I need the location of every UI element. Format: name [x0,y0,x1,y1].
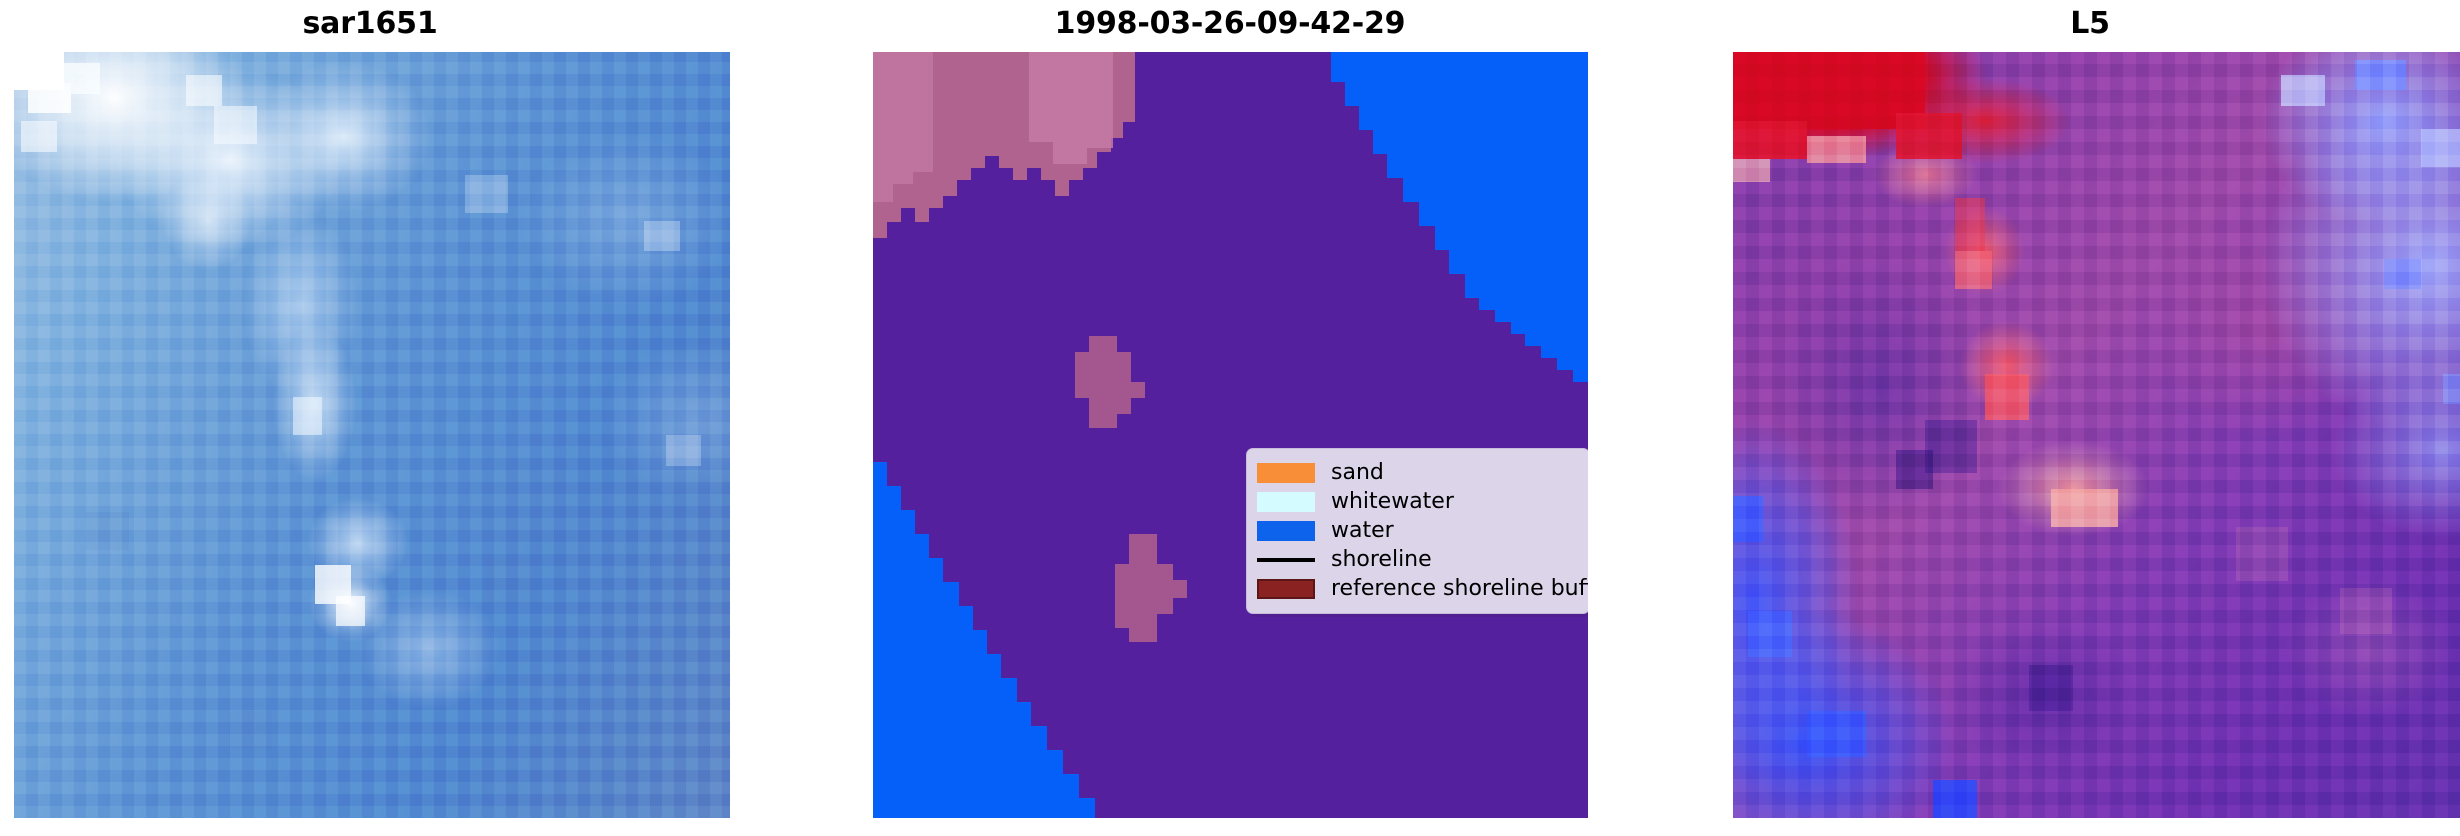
panel-l5-title: L5 [1720,6,2460,41]
panel-l5-image [1733,52,2460,818]
legend-label-whitewater: whitewater [1331,491,1454,513]
legend-item-whitewater: whitewater [1257,487,1579,516]
legend-label-shoreline: shoreline [1331,549,1432,571]
whitewater-swatch-icon [1257,492,1315,512]
shoreline-line-icon [1257,558,1315,562]
legend-item-sand: sand [1257,458,1579,487]
panel-l5: L5 [1720,0,2460,836]
sand-swatch-icon [1257,463,1315,483]
water-swatch-icon [1257,521,1315,541]
legend-item-water: water [1257,516,1579,545]
legend-item-reference-shoreline-buffer: reference shoreline buffer [1257,574,1579,603]
legend-label-reference-shoreline-buffer: reference shoreline buffer [1331,578,1588,600]
panel-classification-title: 1998-03-26-09-42-29 [860,6,1600,41]
panel-classification-image: sand whitewater water shoreline referenc… [873,52,1588,818]
legend-label-water: water [1331,520,1394,542]
panel-sar: sar1651 [0,0,740,836]
panel-sar-title: sar1651 [0,6,740,41]
class-buffer-highlight-topleft [873,52,1588,818]
legend: sand whitewater water shoreline referenc… [1246,448,1588,614]
l5-speckle-overlay [1733,52,2460,818]
sar-speckle-overlay [14,52,730,818]
legend-item-shoreline: shoreline [1257,545,1579,574]
panel-sar-image [14,52,730,818]
reference-buffer-swatch-icon [1257,579,1315,599]
panel-classification: 1998-03-26-09-42-29 [860,0,1600,836]
figure-root: sar1651 1998- [0,0,2460,836]
legend-label-sand: sand [1331,462,1384,484]
